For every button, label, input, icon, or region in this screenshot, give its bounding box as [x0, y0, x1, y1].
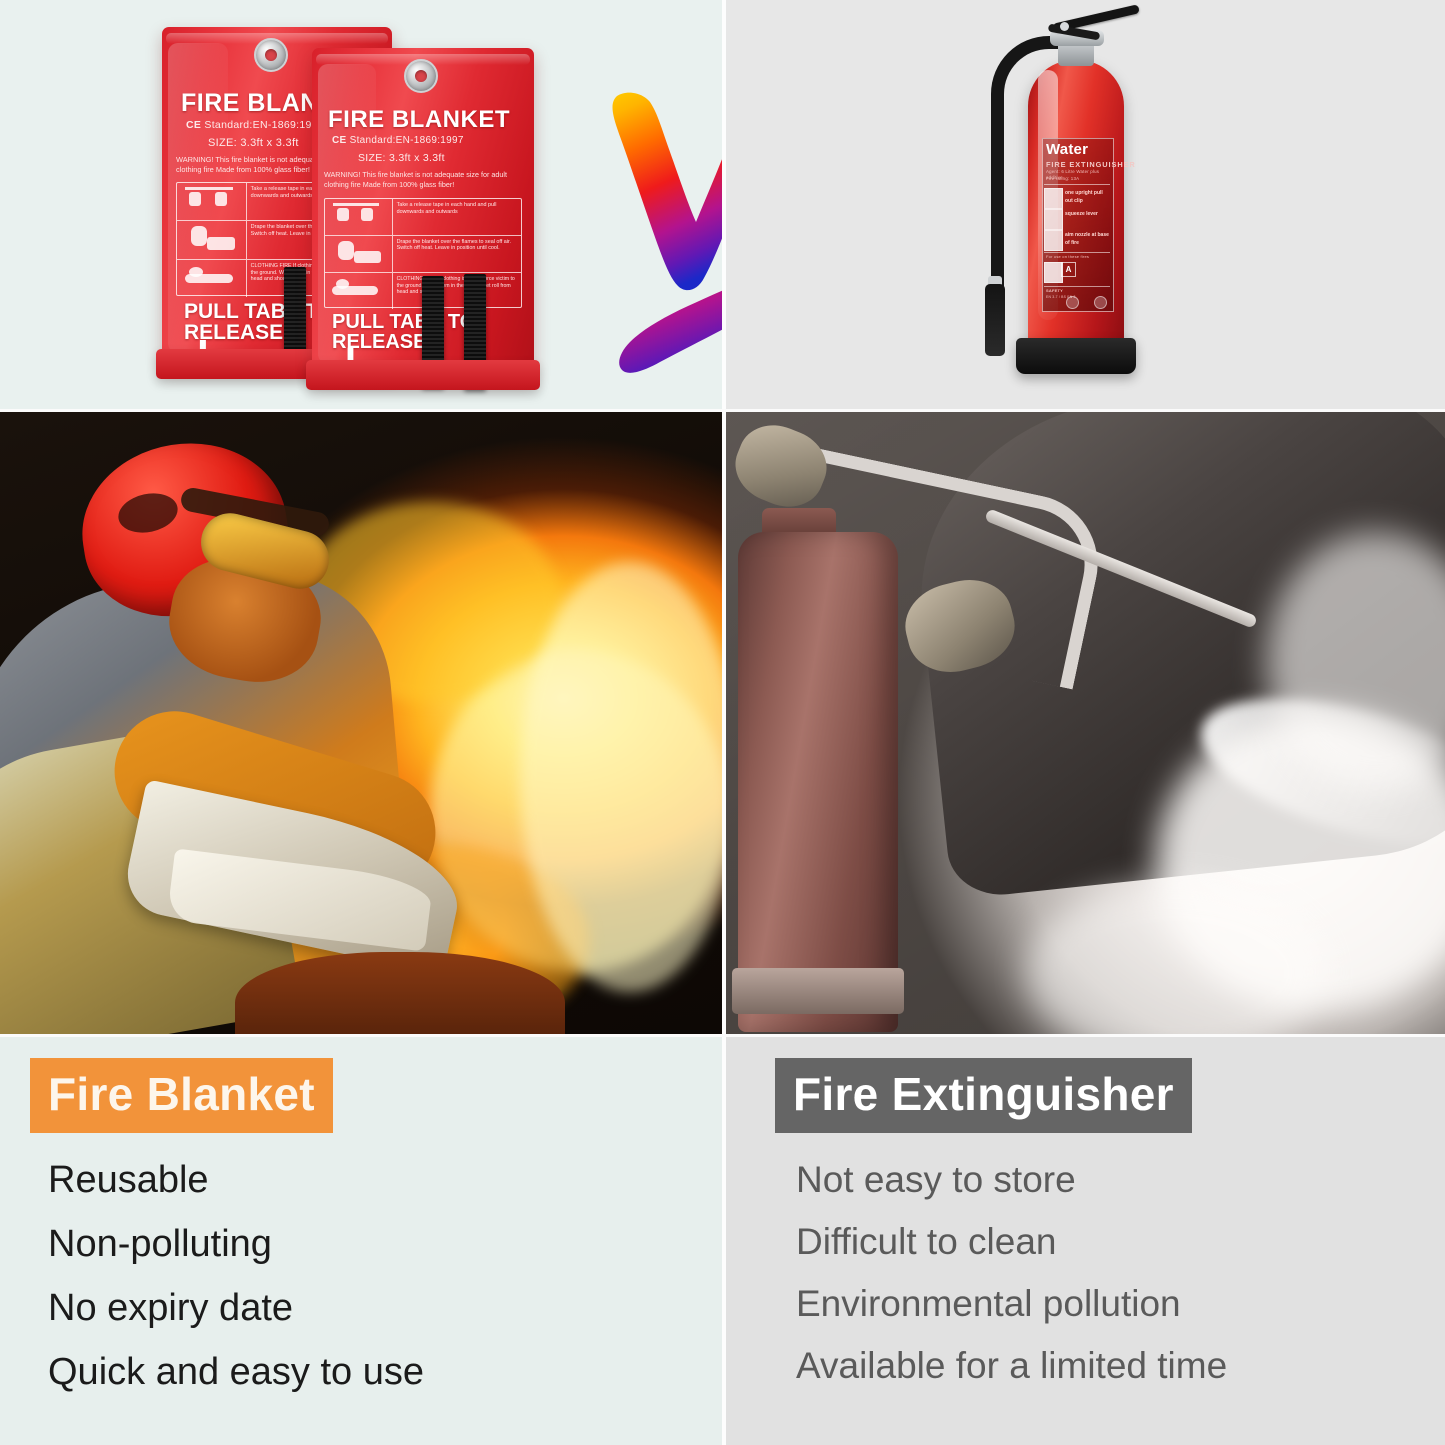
- package-size-back: SIZE: 3.3ft x 3.3ft: [208, 137, 299, 149]
- standard-text-back: Standard:EN-1869:1997: [204, 119, 324, 131]
- instruction-text: Take a release tape in each hand and pul…: [393, 199, 521, 235]
- package-title-front: FIRE BLANKET: [328, 106, 510, 134]
- instruction-pictogram: [177, 183, 247, 220]
- photo-fire-extinguisher-in-use: [726, 412, 1445, 1034]
- label-step: one upright pull out clip: [1044, 188, 1110, 207]
- extinguisher-nozzle: [985, 284, 1005, 356]
- instruction-row: Take a release tape in each hand and pul…: [325, 199, 521, 236]
- panel-product-fire-blanket: FIRE BLANKET CE Standard:EN-1869:1997 SI…: [0, 0, 722, 410]
- step-pictogram-icon: [1044, 230, 1063, 251]
- label-divider: [1044, 252, 1110, 253]
- label-divider: [1044, 286, 1110, 287]
- step-text: one upright pull out clip: [1065, 190, 1110, 205]
- photo-fire-blanket-in-use: [0, 412, 722, 1034]
- approval-seal-icon: [1066, 296, 1079, 309]
- summary-fire-extinguisher: Fire Extinguisher Not easy to store Diff…: [726, 1036, 1445, 1445]
- package-standard-front: CE Standard:EN-1869:1997: [332, 135, 464, 146]
- label-safety-heading: SAFETY: [1046, 288, 1108, 294]
- heading-fire-blanket: Fire Blanket: [30, 1058, 333, 1133]
- list-item: Quick and easy to use: [48, 1351, 424, 1394]
- fire-blanket-feature-list: Reusable Non-polluting No expiry date Qu…: [48, 1159, 424, 1415]
- horizontal-divider-bottom: [0, 1034, 1445, 1037]
- list-item: Environmental pollution: [796, 1283, 1227, 1325]
- kitemark-seal-icon: [1094, 296, 1107, 309]
- step-pictogram-icon: [1044, 188, 1063, 209]
- instruction-pictogram: [177, 221, 247, 259]
- instruction-pictogram: [177, 260, 247, 297]
- burning-drum: [235, 952, 565, 1034]
- instruction-row: Drape the blanket over the flames to sea…: [325, 236, 521, 274]
- fire-extinguisher-feature-list: Not easy to store Difficult to clean Env…: [796, 1159, 1227, 1407]
- extinguisher-base: [1016, 338, 1136, 374]
- comparison-infographic: FIRE BLANKET CE Standard:EN-1869:1997 SI…: [0, 0, 1445, 1445]
- summary-fire-blanket: Fire Blanket Reusable Non-polluting No e…: [0, 1036, 722, 1445]
- ce-mark-back: CE: [186, 119, 201, 131]
- list-item: No expiry date: [48, 1287, 424, 1330]
- list-item: Difficult to clean: [796, 1221, 1227, 1263]
- hanging-hole-grommet: [254, 38, 288, 72]
- label-rating-line: Fire rating: 13A: [1046, 176, 1108, 182]
- fire-class-badge-a: A: [1061, 262, 1076, 277]
- list-item: Not easy to store: [796, 1159, 1227, 1201]
- heading-fire-extinguisher: Fire Extinguisher: [775, 1058, 1192, 1133]
- vertical-divider: [722, 0, 726, 1445]
- list-item: Non-polluting: [48, 1223, 424, 1266]
- fire-blanket-package-front: FIRE BLANKET CE Standard:EN-1869:1997 SI…: [312, 48, 534, 378]
- step-text: squeeze lever: [1065, 211, 1098, 219]
- panel-product-fire-extinguisher: Water FIRE EXTINGUISHER Agent: 6 Litre W…: [726, 0, 1445, 410]
- step-pictogram-icon: [1044, 209, 1063, 230]
- step-text: aim nozzle at base of fire: [1065, 232, 1110, 247]
- label-step: squeeze lever: [1044, 209, 1110, 228]
- instruction-text: CLOTHING FIRE If clothing is on fire for…: [393, 273, 521, 309]
- instruction-pictogram: [325, 273, 393, 309]
- safety-pin-icon: [1060, 22, 1069, 31]
- package-size-front: SIZE: 3.3ft x 3.3ft: [358, 152, 445, 164]
- cylinder-foot: [732, 968, 904, 1014]
- horizontal-divider-top: [0, 409, 1445, 412]
- instruction-text: Drape the blanket over the flames to sea…: [393, 236, 521, 273]
- package-bottom-lip: [306, 360, 540, 390]
- package-warning-front: WARNING! This fire blanket is not adequa…: [324, 170, 522, 189]
- standard-text-front: Standard:EN-1869:1997: [350, 135, 464, 146]
- list-item: Available for a limited time: [796, 1345, 1227, 1387]
- list-item: Reusable: [48, 1159, 424, 1202]
- hanging-hole-grommet: [404, 59, 438, 93]
- label-agent-name: Water: [1046, 141, 1088, 158]
- water-fire-extinguisher: Water FIRE EXTINGUISHER Agent: 6 Litre W…: [986, 8, 1176, 398]
- package-standard-back: CE Standard:EN-1869:1997: [186, 119, 324, 131]
- label-class-heading: For use on these fires: [1046, 254, 1108, 260]
- label-type: FIRE EXTINGUISHER: [1046, 160, 1136, 169]
- label-divider: [1044, 184, 1110, 185]
- versus-graphic: [576, 52, 722, 392]
- ce-mark-front: CE: [332, 135, 347, 146]
- instruction-pictogram: [325, 236, 393, 273]
- instruction-pictogram: [325, 199, 393, 235]
- label-step: aim nozzle at base of fire: [1044, 230, 1110, 249]
